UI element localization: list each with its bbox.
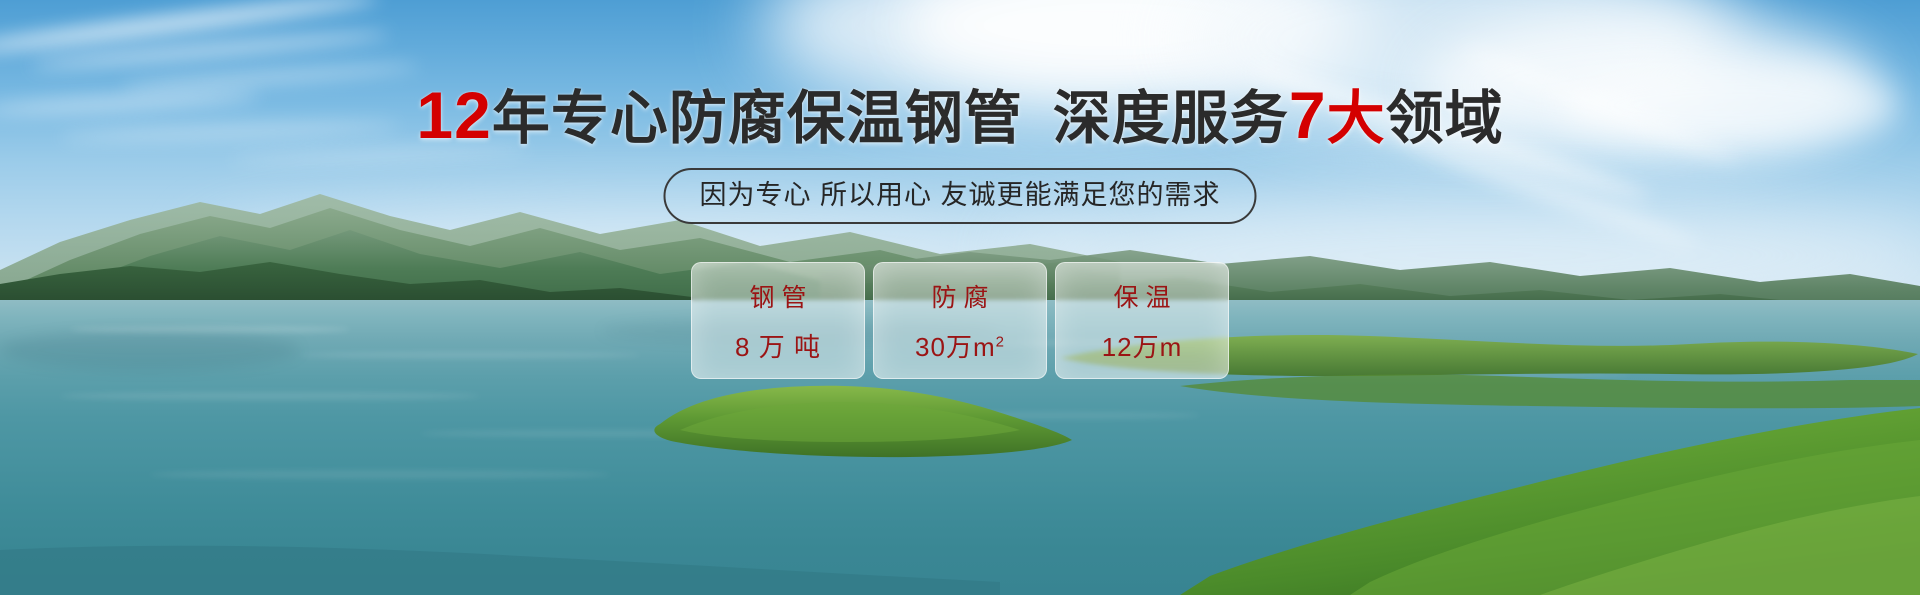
stat-card-label: 钢管 [742, 278, 813, 314]
water-foreground-edge [0, 520, 1000, 595]
headline: 12年专心防腐保温钢管深度服务7大领域 [0, 84, 1920, 150]
stat-card-value: 30万m2 [915, 327, 1005, 364]
stat-card: 钢管 8 万 吨 [691, 262, 865, 379]
stat-card: 保温 12万m [1055, 262, 1229, 379]
stat-card-value: 8 万 吨 [735, 327, 821, 364]
water-shimmer [150, 470, 610, 479]
stat-card: 防腐 30万m2 [873, 262, 1047, 379]
headline-segment-3: 领域 [1386, 86, 1504, 151]
water-shadow [0, 330, 300, 370]
stat-card-group: 钢管 8 万 吨 防腐 30万m2 保温 12万m [691, 262, 1229, 379]
stat-card-value-text: 8 万 吨 [735, 332, 821, 362]
headline-fields-number: 7 [1289, 78, 1327, 152]
subtitle-pill: 因为专心 所以用心 友诚更能满足您的需求 [663, 168, 1256, 224]
headline-years-number: 12 [416, 78, 491, 152]
headline-segment-1: 年专心防腐保温钢管 [492, 86, 1023, 151]
stat-card-label: 保温 [1106, 278, 1177, 314]
stat-card-value-superscript: 2 [996, 333, 1005, 350]
stat-card-value-text: 12万m [1102, 332, 1183, 362]
water-shimmer [60, 392, 480, 400]
water-shimmer [300, 352, 640, 358]
stat-card-value: 12万m [1102, 327, 1183, 364]
stat-card-label: 防腐 [924, 278, 995, 314]
stat-card-value-text: 30万m [915, 332, 996, 362]
hero-banner: 12年专心防腐保温钢管深度服务7大领域 因为专心 所以用心 友诚更能满足您的需求… [0, 0, 1920, 595]
headline-segment-2: 深度服务 [1053, 86, 1289, 151]
foreground-grass [880, 400, 1920, 595]
subtitle-text: 因为专心 所以用心 友诚更能满足您的需求 [699, 180, 1220, 210]
headline-fields-unit: 大 [1327, 86, 1386, 151]
